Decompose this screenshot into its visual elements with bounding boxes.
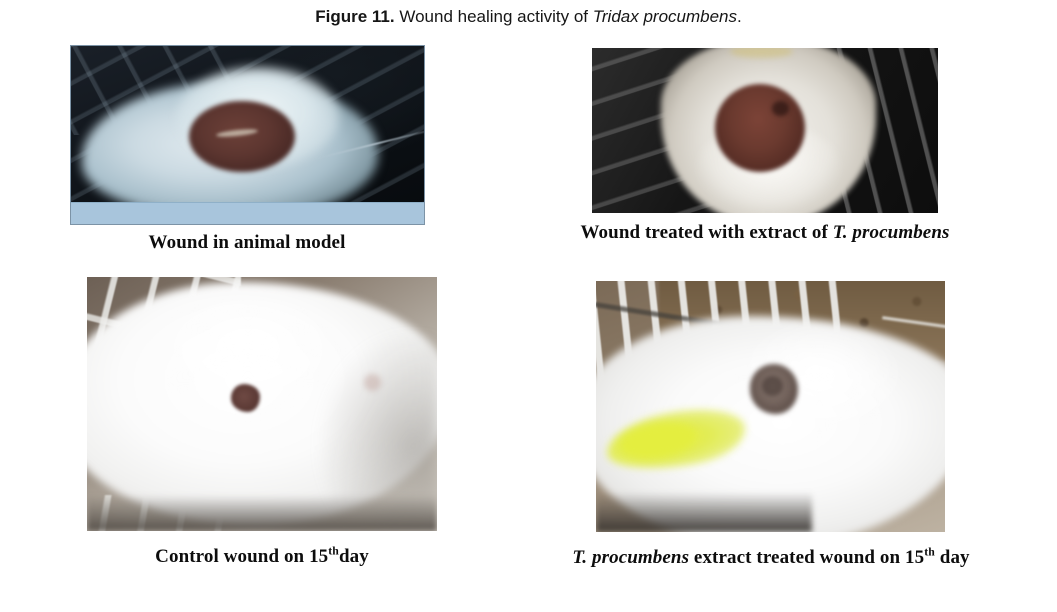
figure-panel-wound-treated: Wound treated with extract of T. procumb… — [592, 48, 938, 213]
caption-ordinal-suffix: th — [328, 545, 339, 558]
caption-text-lead: Control wound on 15 — [155, 546, 328, 567]
caption-text-tail: day — [935, 547, 970, 568]
caption-text-lead: extract treated wound on 15 — [689, 547, 924, 568]
figure-panel-control-day15: Control wound on 15thday — [87, 277, 437, 531]
wound-area — [189, 101, 295, 172]
figure-label: Figure 11. — [315, 7, 394, 26]
figure-panel-extract-day15: T. procumbens extract treated wound on 1… — [596, 281, 945, 532]
photo-extract-treated-wound-day15 — [596, 281, 945, 532]
blue-band-overlay — [71, 202, 424, 224]
caption-wound-treated-with-extract: Wound treated with extract of T. procumb… — [482, 221, 1048, 245]
photo-wound-in-animal-model — [70, 45, 425, 225]
caption-text-tail: day — [339, 546, 369, 567]
rat-body-shadow — [318, 333, 437, 521]
figure-panel-wound-model: Wound in animal model — [70, 45, 425, 225]
photo-wound-treated-with-extract — [592, 48, 938, 213]
wound-scab — [231, 384, 261, 412]
figure-title-end: . — [737, 7, 742, 26]
figure-title: Figure 11. Wound healing activity of Tri… — [0, 6, 1057, 28]
caption-extract-treated-wound-day15: T. procumbens extract treated wound on 1… — [483, 546, 1057, 570]
wound-area — [715, 84, 805, 171]
skin-mark — [364, 374, 382, 392]
photo-control-wound-day15 — [87, 277, 437, 531]
cage-floor-shadow — [87, 495, 437, 531]
caption-ordinal-suffix: th — [924, 546, 935, 559]
caption-wound-in-animal-model: Wound in animal model — [32, 231, 462, 255]
caption-species-name: T. procumbens — [833, 222, 950, 243]
cage-floor-shadow — [596, 492, 812, 532]
caption-species-name: T. procumbens — [572, 547, 689, 568]
wound-dark-spot — [772, 101, 789, 116]
caption-text-lead: Wound treated with extract of — [581, 222, 833, 243]
figure-title-text: Wound healing activity of — [395, 7, 593, 26]
figure-species-name: Tridax procumbens — [593, 7, 737, 26]
caption-control-wound-day15: Control wound on 15thday — [39, 545, 485, 569]
